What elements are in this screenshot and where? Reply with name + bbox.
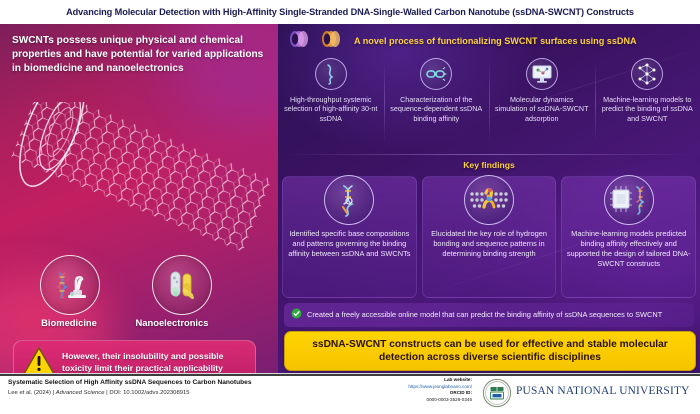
citation-authors: Lee et al. (2024)	[8, 390, 51, 396]
chip-dna-icon	[604, 175, 654, 225]
process-step-text: High-throughput systemic selection of hi…	[284, 95, 378, 123]
infographic-page: Advancing Molecular Detection with High-…	[0, 0, 700, 413]
footer: Systematic Selection of High Affinity ss…	[0, 373, 700, 414]
neural-network-icon	[631, 58, 663, 90]
process-step-text: Machine-learning models to predict the b…	[600, 95, 694, 123]
process-header: A novel process of functionalizing SWCNT…	[286, 28, 696, 54]
finding-text: Identified specific base compositions an…	[284, 229, 414, 259]
title-bar: Advancing Molecular Detection with High-…	[0, 0, 700, 24]
page-title: Advancing Molecular Detection with High-…	[66, 7, 634, 17]
hydrogen-bonding-model-icon	[464, 175, 514, 225]
process-step: Characterization of the sequence-depende…	[384, 56, 490, 150]
warning-callout: However, their insolubility and possible…	[13, 340, 256, 373]
finding-text: Elucidated the key role of hydrogen bond…	[424, 229, 554, 259]
ssdna-strand-icon	[315, 58, 347, 90]
orcid-id: 0000-0003-3529-0346	[372, 397, 472, 404]
right-panel: A novel process of functionalizing SWCNT…	[278, 24, 700, 373]
green-check-icon	[291, 306, 302, 324]
university-name: PUSAN NATIONAL UNIVERSITY	[516, 385, 690, 397]
conclusion-text: ssDNA-SWCNT constructs can be used for e…	[285, 338, 695, 365]
orcid-label: ORCID ID:	[372, 390, 472, 397]
warning-triangle-icon	[22, 346, 56, 374]
microscope-dna-icon	[40, 255, 100, 315]
lab-website-label: Lab website:	[372, 377, 472, 384]
process-steps: High-throughput systemic selection of hi…	[278, 56, 700, 150]
application-label-nanoelectronics: Nanoelectronics	[112, 317, 232, 328]
test-tubes-icon	[152, 255, 212, 315]
warning-text: However, their insolubility and possible…	[62, 351, 247, 373]
online-model-text: Created a freely accessible online model…	[307, 310, 662, 320]
process-step: High-throughput systemic selection of hi…	[278, 56, 384, 150]
key-findings-label: Key findings	[463, 160, 515, 170]
intro-text: SWCNTs possess unique physical and chemi…	[12, 34, 264, 76]
process-step-text: Molecular dynamics simulation of ssDNA-S…	[495, 95, 589, 123]
citation-journal: Advanced Science	[56, 390, 105, 396]
finding-card: Machine-learning models predicted bindin…	[561, 176, 696, 298]
divider	[284, 154, 694, 155]
process-header-text: A novel process of functionalizing SWCNT…	[354, 36, 637, 46]
process-step: Molecular dynamics simulation of ssDNA-S…	[489, 56, 595, 150]
infographic-canvas: SWCNTs possess unique physical and chemi…	[0, 24, 700, 373]
lab-website-url[interactable]: https://www.jeonglabnano.com/	[372, 384, 472, 391]
dna-helix-icon	[324, 175, 374, 225]
application-label-biomedicine: Biomedicine	[9, 317, 129, 328]
key-findings: Identified specific base compositions an…	[282, 176, 696, 298]
carbon-nanotube-illustration	[0, 102, 278, 252]
online-model-callout: Created a freely accessible online model…	[284, 303, 694, 327]
citation-sep2: |	[106, 390, 108, 396]
citation-details: Lee et al. (2024) | Advanced Science | D…	[8, 390, 190, 396]
citation-title: Systematic Selection of High Affinity ss…	[8, 379, 252, 386]
footer-rule	[0, 374, 700, 376]
process-step-text: Characterization of the sequence-depende…	[389, 95, 483, 123]
pnu-seal-icon	[482, 378, 512, 408]
finding-card: Identified specific base compositions an…	[282, 176, 417, 298]
citation-doi: DOI: 10.1002/advs.202308915	[109, 390, 189, 396]
binding-link-icon	[420, 58, 452, 90]
computer-simulation-icon	[526, 58, 558, 90]
nanotube-orange-icon	[318, 29, 348, 54]
citation-sep: |	[53, 390, 55, 396]
process-step: Machine-learning models to predict the b…	[595, 56, 700, 150]
finding-text: Machine-learning models predicted bindin…	[564, 229, 694, 269]
finding-card: Elucidated the key role of hydrogen bond…	[422, 176, 557, 298]
lab-info: Lab website: https://www.jeonglabnano.co…	[372, 377, 472, 403]
nanotube-purple-icon	[286, 29, 316, 54]
conclusion-banner: ssDNA-SWCNT constructs can be used for e…	[284, 331, 696, 371]
left-panel: SWCNTs possess unique physical and chemi…	[0, 24, 278, 373]
